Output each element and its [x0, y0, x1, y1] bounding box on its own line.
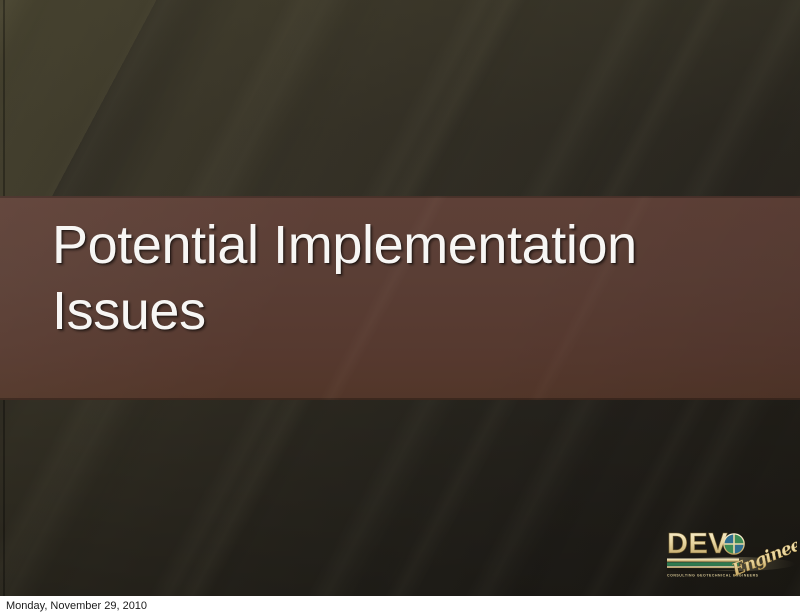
- svg-text:DEV: DEV: [667, 528, 728, 560]
- devo-engineering-logo: DEV CONSULTING GE: [663, 524, 797, 590]
- presentation-viewer: Potential Implementation Issues: [0, 0, 800, 616]
- footer-bar: Monday, November 29, 2010: [0, 596, 800, 616]
- slide-canvas: Potential Implementation Issues: [0, 0, 800, 596]
- slide-title: Potential Implementation Issues: [52, 212, 752, 344]
- devo-engineering-logo-icon: DEV CONSULTING GE: [663, 524, 797, 590]
- footer-date: Monday, November 29, 2010: [6, 599, 147, 613]
